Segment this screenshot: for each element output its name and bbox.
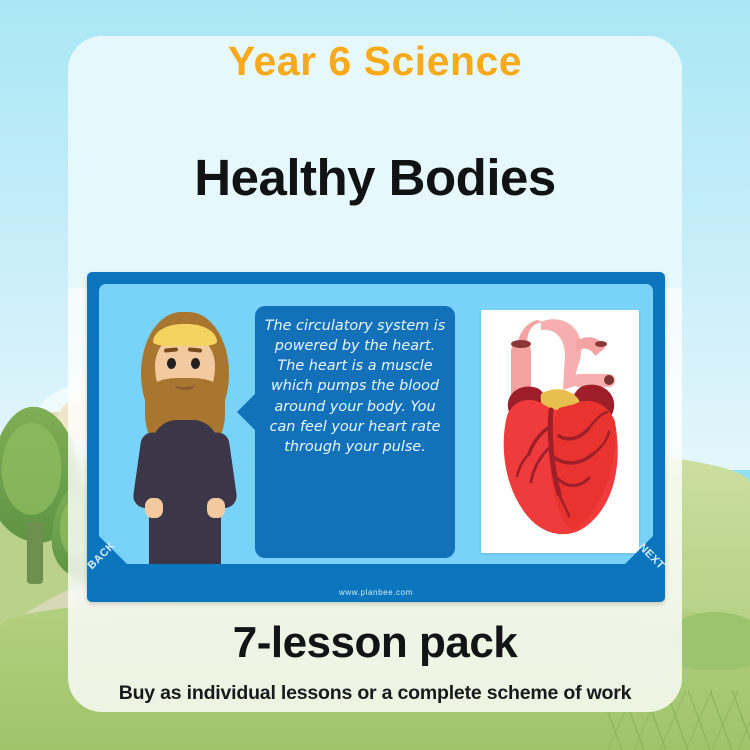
- heart-image-alt: [481, 310, 482, 311]
- pack-tagline: Buy as individual lessons or a complete …: [0, 682, 750, 705]
- slide-preview[interactable]: Cartoon woman wearing a hijab The circul…: [87, 272, 665, 602]
- heart-image-card: [481, 310, 639, 553]
- speech-bubble-tail: [237, 392, 257, 432]
- page-title: Healthy Bodies: [0, 148, 750, 207]
- heart-anatomy-icon: [489, 316, 631, 547]
- pack-heading: 7-lesson pack: [0, 618, 750, 668]
- subject-heading: Year 6 Science: [0, 38, 750, 85]
- speech-bubble: The circulatory system is powered by the…: [255, 306, 455, 558]
- slide-canvas: Cartoon woman wearing a hijab The circul…: [99, 284, 653, 564]
- character-illustration: Cartoon woman wearing a hijab: [133, 312, 237, 564]
- watermark-text: www.planbee.com: [339, 588, 413, 597]
- character-alt-text: Cartoon woman wearing a hijab: [133, 312, 134, 313]
- slide-footer: www.planbee.com: [87, 582, 665, 602]
- speech-bubble-text: The circulatory system is powered by the…: [264, 316, 446, 457]
